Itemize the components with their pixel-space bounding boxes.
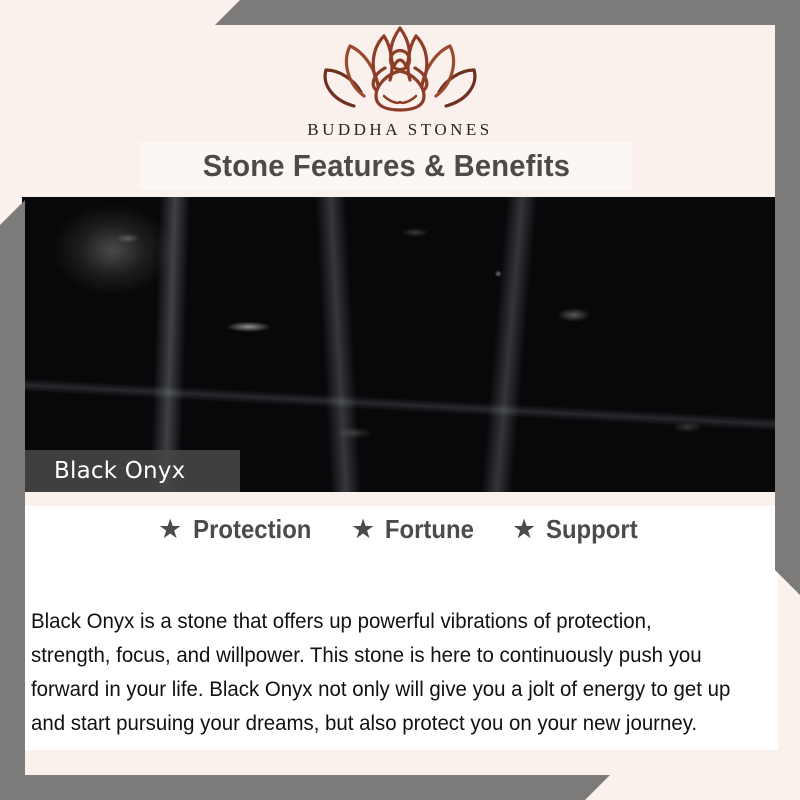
- stone-description: Black Onyx is a stone that offers up pow…: [31, 604, 736, 740]
- stone-photo-highlights: [22, 197, 778, 492]
- title-banner: Stone Features & Benefits: [140, 142, 632, 190]
- feature-item-fortune: ★ Fortune: [351, 514, 478, 545]
- frame-edge-right: [775, 0, 800, 595]
- brand-name: BUDDHA STONES: [0, 120, 800, 140]
- feature-item-support: ★ Support: [512, 514, 642, 545]
- content-panel: ★ Protection ★ Fortune ★ Support Black O…: [22, 492, 778, 750]
- frame-edge-left: [0, 200, 25, 800]
- feature-label: Protection: [194, 514, 312, 545]
- stone-photo: [22, 197, 778, 492]
- brand-logo: BUDDHA STONES: [0, 18, 800, 140]
- panel-top-tint: [22, 492, 778, 506]
- feature-label: Fortune: [385, 514, 474, 545]
- features-row: ★ Protection ★ Fortune ★ Support: [22, 514, 778, 545]
- feature-label: Support: [546, 514, 638, 545]
- star-icon: ★: [158, 516, 182, 543]
- lotus-meditation-icon: [314, 18, 486, 118]
- page-title: Stone Features & Benefits: [202, 148, 569, 184]
- frame-corner-top-right: [215, 0, 800, 25]
- feature-item-protection: ★ Protection: [158, 514, 317, 545]
- star-icon: ★: [351, 516, 375, 543]
- stone-name-bar: Black Onyx: [22, 450, 240, 492]
- stone-name-label: Black Onyx: [54, 458, 185, 484]
- star-icon: ★: [512, 516, 536, 543]
- frame-corner-bottom-left: [0, 775, 610, 800]
- product-info-card: BUDDHA STONES Stone Features & Benefits …: [0, 0, 800, 800]
